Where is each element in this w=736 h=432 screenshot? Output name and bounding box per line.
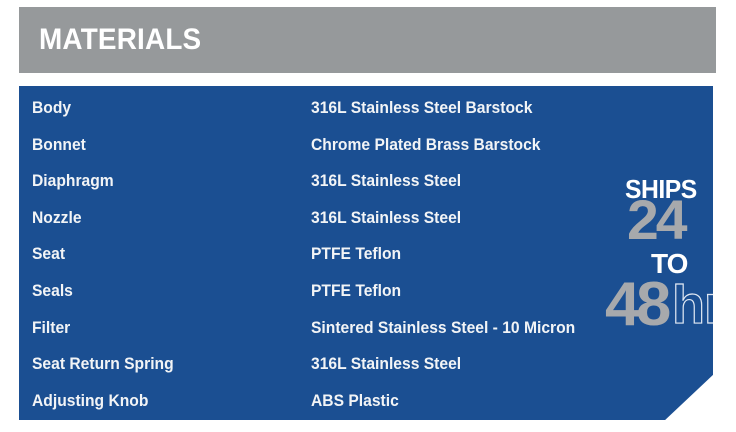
table-cell-material: PTFE Teflon: [311, 282, 401, 299]
table-cell-material: ABS Plastic: [311, 392, 399, 409]
table-cell-part: Bonnet: [32, 136, 86, 153]
table-cell-part: Nozzle: [32, 209, 82, 226]
table-cell-part: Diaphragm: [32, 172, 114, 189]
table-row: BonnetChrome Plated Brass Barstock: [19, 126, 713, 163]
table-row: Adjusting KnobABS Plastic: [19, 382, 713, 419]
table-row: Body316L Stainless Steel Barstock: [19, 89, 713, 126]
table-row: FilterSintered Stainless Steel - 10 Micr…: [19, 309, 713, 346]
table-cell-material: Sintered Stainless Steel - 10 Micron: [311, 319, 575, 336]
table-cell-material: 316L Stainless Steel Barstock: [311, 99, 532, 116]
materials-table-rows: Body316L Stainless Steel BarstockBonnetC…: [19, 86, 713, 420]
materials-table-panel: Body316L Stainless Steel BarstockBonnetC…: [19, 86, 713, 420]
table-row: Diaphragm316L Stainless Steel: [19, 162, 713, 199]
table-row: Nozzle316L Stainless Steel: [19, 199, 713, 236]
table-cell-material: PTFE Teflon: [311, 245, 401, 262]
table-row: SeatPTFE Teflon: [19, 235, 713, 272]
materials-spec-sheet: MATERIALS Body316L Stainless Steel Barst…: [0, 0, 736, 432]
table-row: Seat Return Spring316L Stainless Steel: [19, 345, 713, 382]
table-cell-material: 316L Stainless Steel: [311, 209, 461, 226]
table-cell-material: 316L Stainless Steel: [311, 172, 461, 189]
page-title: MATERIALS: [39, 25, 201, 55]
table-cell-part: Body: [32, 99, 71, 116]
table-cell-part: Filter: [32, 319, 70, 336]
table-cell-material: Chrome Plated Brass Barstock: [311, 136, 540, 153]
table-cell-part: Seals: [32, 282, 73, 299]
table-cell-part: Adjusting Knob: [32, 392, 148, 409]
materials-header-bar: MATERIALS: [19, 7, 716, 73]
table-row: SealsPTFE Teflon: [19, 272, 713, 309]
table-cell-part: Seat: [32, 245, 65, 262]
table-cell-material: 316L Stainless Steel: [311, 355, 461, 372]
table-cell-part: Seat Return Spring: [32, 355, 174, 372]
